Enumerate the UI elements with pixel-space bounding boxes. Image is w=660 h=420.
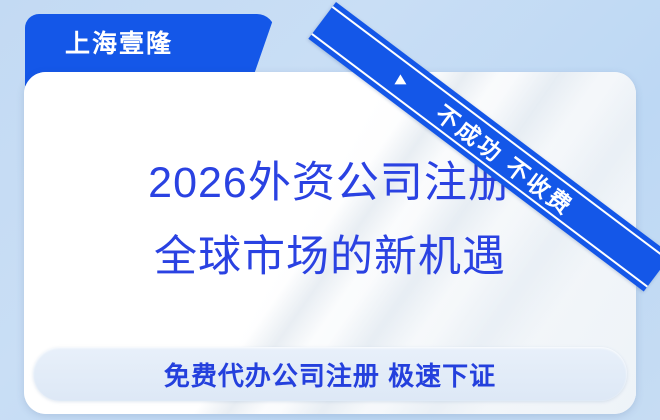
cta-pill-label: 免费代办公司注册 极速下证 <box>33 347 627 401</box>
company-tab-label: 上海壹隆 <box>65 29 173 59</box>
main-card: 2026外资公司注册 全球市场的新机遇 免费代办公司注册 极速下证 <box>24 72 636 414</box>
poster-canvas: 上海壹隆 2026外资公司注册 全球市场的新机遇 免费代办公司注册 极速下证 不… <box>0 0 660 420</box>
cta-pill[interactable]: 免费代办公司注册 极速下证 <box>33 347 627 401</box>
headline-line-2: 全球市场的新机遇 <box>24 220 636 294</box>
headline-line-1: 2026外资公司注册 <box>148 159 512 207</box>
